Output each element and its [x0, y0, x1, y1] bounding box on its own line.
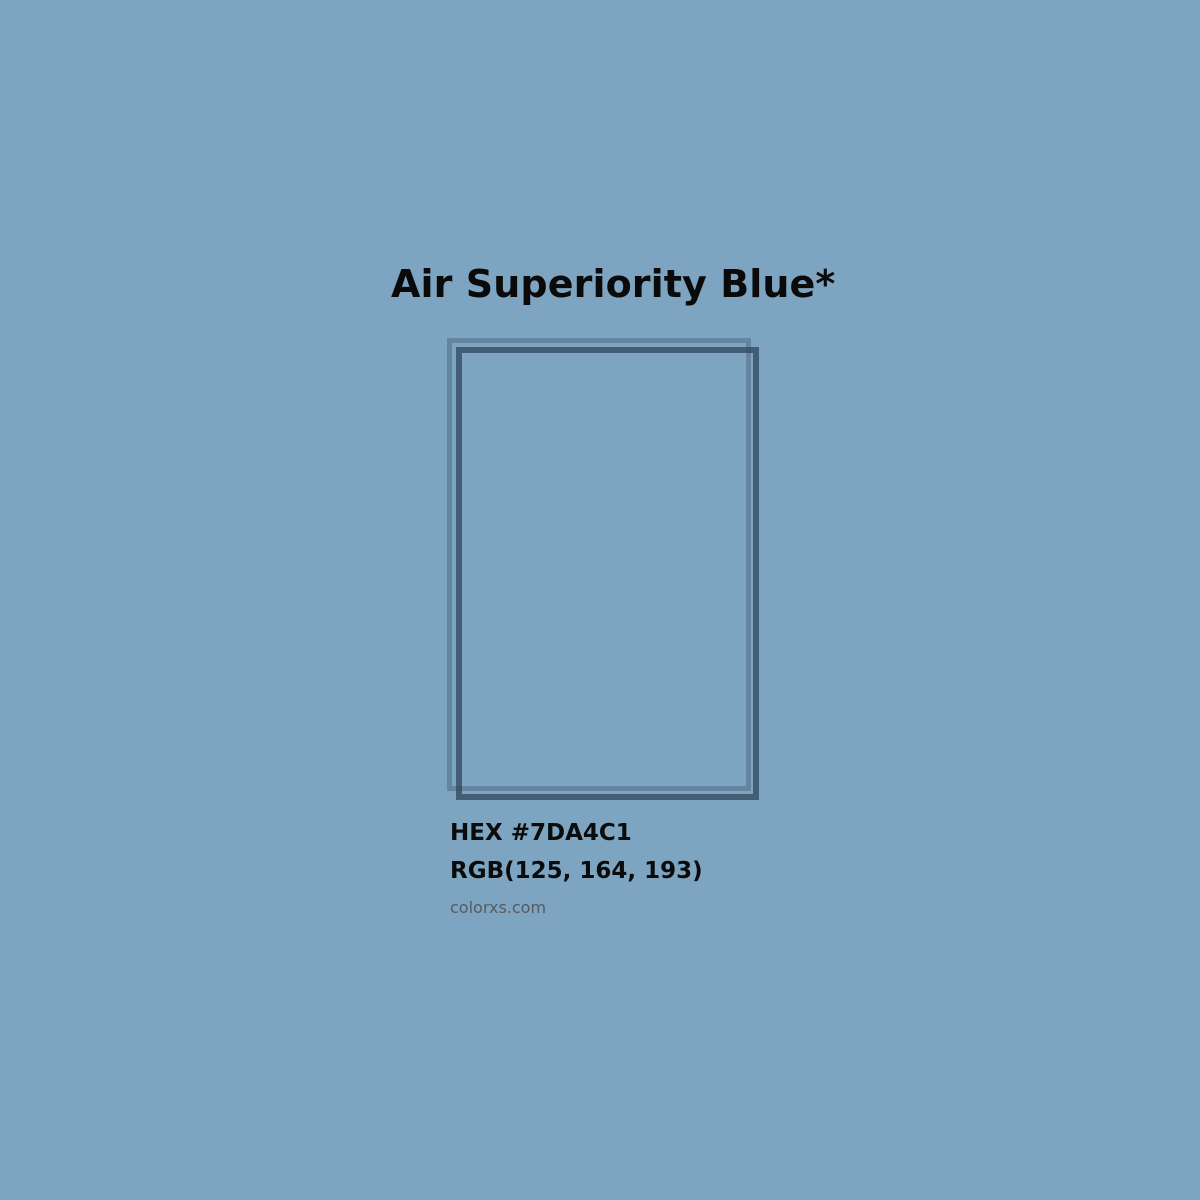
swatch-frame-front [456, 347, 759, 800]
rgb-value-label: RGB(125, 164, 193) [450, 852, 1050, 890]
color-info-block: HEX #7DA4C1 RGB(125, 164, 193) colorxs.c… [450, 814, 1050, 918]
swatch-frame-back [447, 338, 751, 791]
hex-value-label: HEX #7DA4C1 [450, 814, 1050, 852]
color-swatch-page: Air Superiority Blue* HEX #7DA4C1 RGB(12… [0, 0, 1200, 1200]
page-title: Air Superiority Blue* [391, 261, 835, 307]
site-watermark: colorxs.com [450, 890, 1050, 918]
color-swatch [0, 0, 1200, 1200]
